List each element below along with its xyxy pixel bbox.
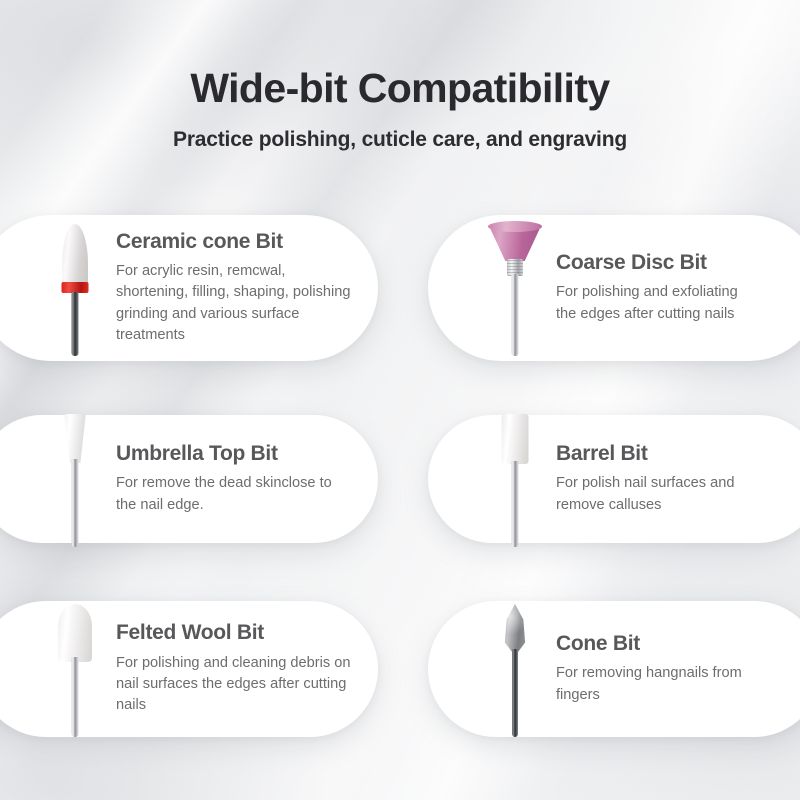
card-text: Ceramic cone Bit For acrylic resin, remc… [116, 230, 352, 346]
bit-card-umbrella-top[interactable]: Umbrella Top Bit For remove the dead ski… [0, 415, 378, 543]
bit-shank [72, 459, 79, 547]
card-row-1: Ceramic cone Bit For acrylic resin, remc… [0, 213, 800, 403]
card-title: Umbrella Top Bit [116, 442, 352, 466]
bit-shank [72, 292, 79, 356]
barrel-bit-illustration [484, 409, 546, 549]
bit-head [62, 224, 88, 286]
bit-card-ceramic-cone[interactable]: Ceramic cone Bit For acrylic resin, remc… [0, 215, 378, 361]
card-description: For polish nail surfaces and remove call… [556, 473, 748, 516]
card-description: For polishing and exfoliating the edges … [556, 282, 748, 325]
card-text: Barrel Bit For polish nail surfaces and … [556, 442, 748, 516]
umbrella-top-bit-illustration [44, 409, 106, 549]
bit-head [62, 414, 89, 463]
cone-bit-illustration [484, 599, 546, 739]
bit-shank [512, 649, 518, 737]
bit-card-felted-wool[interactable]: Felted Wool Bit For polishing and cleani… [0, 601, 378, 737]
coarse-disc-bit-illustration [484, 218, 546, 358]
bit-shank [512, 274, 519, 356]
header: Wide-bit Compatibility Practice polishin… [0, 0, 800, 152]
card-row-3: Felted Wool Bit For polishing and cleani… [0, 593, 800, 783]
bit-shank [512, 461, 519, 547]
card-description: For polishing and cleaning debris on nai… [116, 653, 352, 717]
card-description: For remove the dead skinclose to the nai… [116, 473, 352, 516]
ceramic-cone-bit-illustration [44, 218, 106, 358]
card-description: For removing hangnails from fingers [556, 663, 748, 706]
bit-head-top [488, 221, 542, 232]
card-text: Umbrella Top Bit For remove the dead ski… [116, 442, 352, 516]
bit-card-grid: Ceramic cone Bit For acrylic resin, remc… [0, 213, 800, 783]
card-description: For acrylic resin, remcwal, shortening, … [116, 261, 352, 346]
bit-card-barrel[interactable]: Barrel Bit For polish nail surfaces and … [428, 415, 800, 543]
bit-head [58, 604, 92, 662]
card-title: Felted Wool Bit [116, 621, 352, 645]
card-text: Coarse Disc Bit For polishing and exfoli… [556, 251, 748, 325]
bit-head [502, 414, 529, 464]
card-title: Ceramic cone Bit [116, 230, 352, 254]
bit-shank [72, 657, 79, 737]
bit-card-cone[interactable]: Cone Bit For removing hangnails from fin… [428, 601, 800, 737]
card-title: Cone Bit [556, 632, 748, 656]
card-title: Barrel Bit [556, 442, 748, 466]
card-row-2: Umbrella Top Bit For remove the dead ski… [0, 403, 800, 593]
felted-wool-bit-illustration [44, 599, 106, 739]
card-text: Cone Bit For removing hangnails from fin… [556, 632, 748, 706]
bit-card-coarse-disc[interactable]: Coarse Disc Bit For polishing and exfoli… [428, 215, 800, 361]
card-title: Coarse Disc Bit [556, 251, 748, 275]
page-subtitle: Practice polishing, cuticle care, and en… [0, 111, 800, 152]
card-text: Felted Wool Bit For polishing and cleani… [116, 621, 352, 716]
page-title: Wide-bit Compatibility [0, 0, 800, 111]
